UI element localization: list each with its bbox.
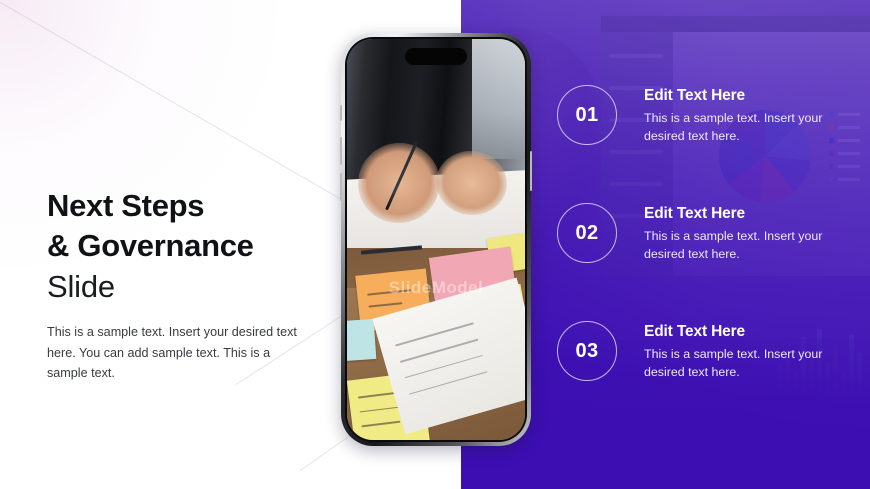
list-item-body: This is a sample text. Insert your desir… xyxy=(644,346,844,381)
dynamic-island xyxy=(405,48,467,65)
list-item-body: This is a sample text. Insert your desir… xyxy=(644,110,844,145)
watermark: SlideModel xyxy=(389,278,484,298)
phone-mockup: SlideModel xyxy=(341,33,531,446)
decorative-diagonal-line-top xyxy=(0,0,362,212)
step-number: 03 xyxy=(575,340,598,363)
phone-bezel: SlideModel xyxy=(345,37,527,442)
title-line-3: Slide xyxy=(47,266,347,308)
left-paragraph: This is a sample text. Insert your desir… xyxy=(47,322,307,384)
photo-window-light xyxy=(472,39,525,159)
phone-silent-switch[interactable] xyxy=(340,105,342,121)
list-item-text: Edit Text Here This is a sample text. In… xyxy=(644,323,844,381)
step-number: 02 xyxy=(575,222,598,245)
step-number: 01 xyxy=(575,104,598,127)
step-number-circle: 01 xyxy=(557,85,617,145)
phone-screen-photo: SlideModel xyxy=(347,39,525,440)
phone-volume-up-button[interactable] xyxy=(340,137,342,165)
step-number-circle: 02 xyxy=(557,203,617,263)
list-item-body: This is a sample text. Insert your desir… xyxy=(644,228,844,263)
list-item-heading: Edit Text Here xyxy=(644,205,844,223)
title-line-2: & Governance xyxy=(47,226,347,266)
list-item-text: Edit Text Here This is a sample text. In… xyxy=(644,87,844,145)
list-item-text: Edit Text Here This is a sample text. In… xyxy=(644,205,844,263)
phone-volume-down-button[interactable] xyxy=(340,173,342,201)
title-line-1: Next Steps xyxy=(47,186,347,226)
step-number-circle: 03 xyxy=(557,321,617,381)
list-item-heading: Edit Text Here xyxy=(644,323,844,341)
phone-power-button[interactable] xyxy=(530,151,532,191)
list-item-heading: Edit Text Here xyxy=(644,87,844,105)
page-title: Next Steps & Governance Slide xyxy=(47,186,347,308)
slide-canvas: Next Steps & Governance Slide This is a … xyxy=(0,0,870,489)
photo-sticky-note xyxy=(347,319,377,361)
